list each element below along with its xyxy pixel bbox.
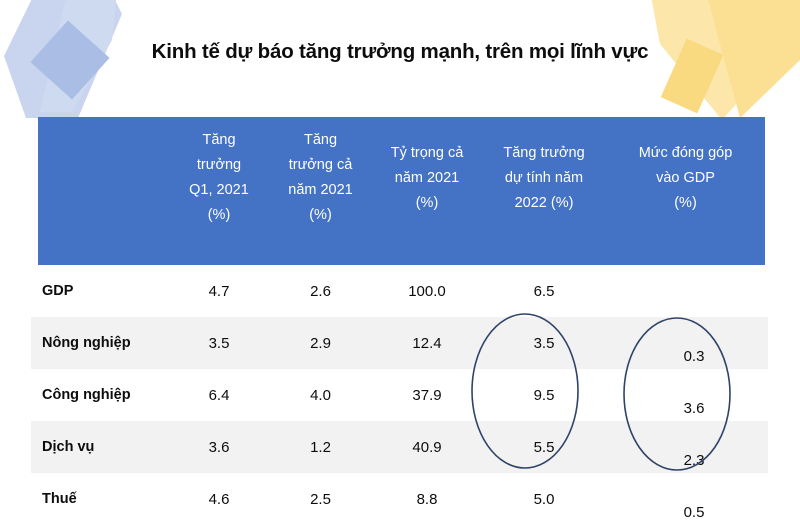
cell-share-2021: 40.9 [372,439,482,456]
table-header-row: Tăng trưởng Q1, 2021 (%) Tăng trưởng cả … [38,117,765,265]
cell-gdp-contribution: 3.6 [606,400,768,417]
economic-forecast-table: Tăng trưởng Q1, 2021 (%) Tăng trưởng cả … [31,117,768,525]
column-header-forecast-2022: Tăng trưởng dự tính năm 2022 (%) [482,117,606,216]
cell-forecast-2022: 9.5 [482,387,606,404]
table-row: Thuế 4.6 2.5 8.8 5.0 0.5 [31,473,768,525]
row-label: Nông nghiệp [31,335,169,351]
cell-forecast-2022: 5.0 [482,491,606,508]
cell-share-2021: 37.9 [372,387,482,404]
cell-growth-q1-2021: 6.4 [169,387,269,404]
row-label: GDP [31,283,169,299]
cell-growth-full-2021: 2.5 [269,491,372,508]
cell-share-2021: 100.0 [372,283,482,300]
cell-gdp-contribution: 2.3 [606,452,768,469]
cell-share-2021: 8.8 [372,491,482,508]
cell-forecast-2022: 6.5 [482,283,606,300]
table-row: Dịch vụ 3.6 1.2 40.9 5.5 2.3 [31,421,768,473]
cell-growth-q1-2021: 4.7 [169,283,269,300]
cell-growth-full-2021: 2.6 [269,283,372,300]
cell-growth-full-2021: 4.0 [269,387,372,404]
cell-growth-full-2021: 2.9 [269,335,372,352]
column-header-region [38,117,169,128]
cell-growth-q1-2021: 3.5 [169,335,269,352]
table-row: Nông nghiệp 3.5 2.9 12.4 3.5 0.3 [31,317,768,369]
table-row: GDP 4.7 2.6 100.0 6.5 [31,265,768,317]
column-header-growth-q1-2021: Tăng trưởng Q1, 2021 (%) [169,117,269,228]
column-header-share-2021: Tỷ trọng cả năm 2021 (%) [372,117,482,216]
cell-growth-q1-2021: 4.6 [169,491,269,508]
row-label: Dịch vụ [31,439,169,455]
row-label: Thuế [31,491,169,507]
row-label: Công nghiệp [31,387,169,403]
cell-growth-full-2021: 1.2 [269,439,372,456]
cell-gdp-contribution: 0.3 [606,348,768,365]
column-header-gdp-contribution: Mức đóng góp vào GDP (%) [606,117,765,216]
table-row: Công nghiệp 6.4 4.0 37.9 9.5 3.6 [31,369,768,421]
cell-share-2021: 12.4 [372,335,482,352]
cell-growth-q1-2021: 3.6 [169,439,269,456]
cell-gdp-contribution: 0.5 [606,504,768,521]
page-title: Kinh tế dự báo tăng trưởng mạnh, trên mọ… [0,40,800,65]
cell-forecast-2022: 5.5 [482,439,606,456]
column-header-growth-full-2021: Tăng trưởng cả năm 2021 (%) [269,117,372,228]
cell-forecast-2022: 3.5 [482,335,606,352]
